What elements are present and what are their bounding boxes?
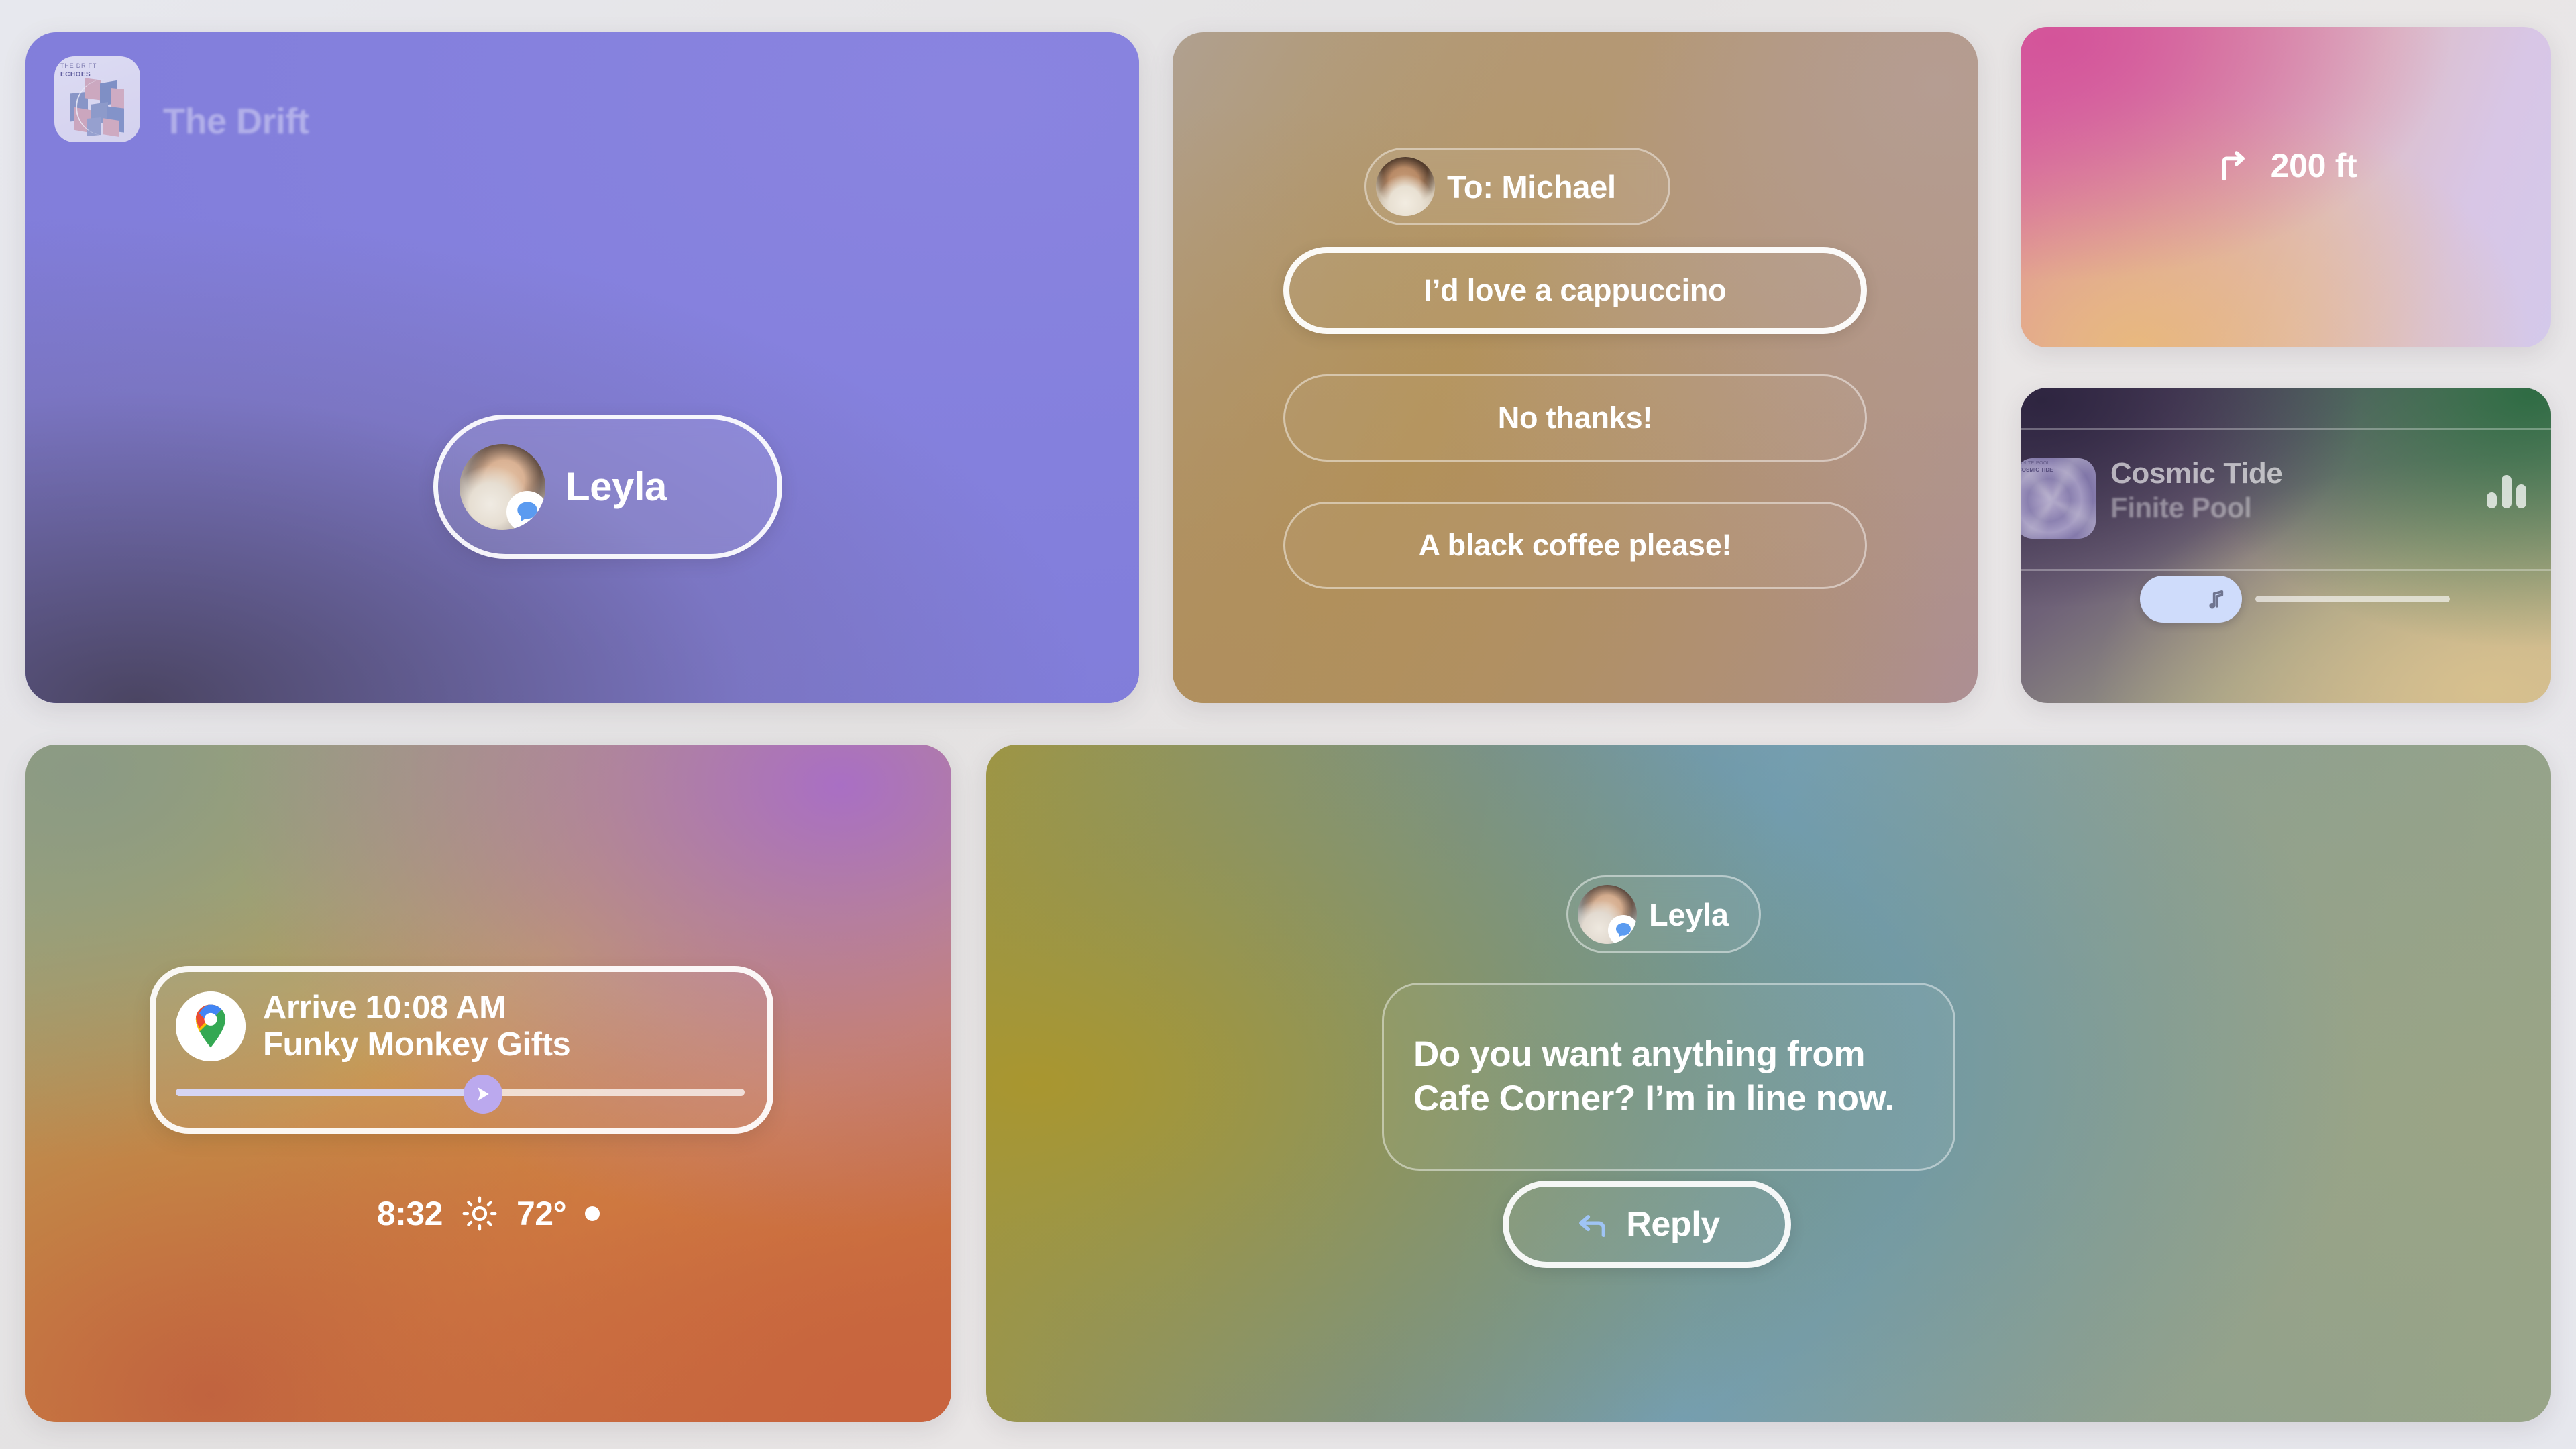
contact-chip-leyla[interactable]: Leyla <box>433 415 782 559</box>
avatar <box>460 444 545 530</box>
album-art-echoes: THE DRIFT ECHOES <box>54 56 140 142</box>
music-metadata: Cosmic Tide Finite Pool <box>2110 458 2282 523</box>
reply-option-0[interactable]: I’d love a cappuccino <box>1283 247 1867 334</box>
recipient-chip-michael[interactable]: To: Michael <box>1364 148 1670 225</box>
track-artist: The Drift <box>163 103 309 141</box>
music-note-icon <box>2203 586 2230 612</box>
media-player-card[interactable]: THE DRIFT ECHOES Echoes The Drift <box>25 32 1139 703</box>
compose-card-background <box>1173 32 1978 703</box>
compose-reply-card[interactable]: To: Michael I’d love a cappuccino No tha… <box>1173 32 1978 703</box>
message-bubble[interactable]: Do you want anything from Cafe Corner? I… <box>1382 983 1955 1171</box>
route-header: Arrive 10:08 AM Funky Monkey Gifts <box>176 989 745 1063</box>
reply-option-2[interactable]: A black coffee please! <box>1283 502 1867 589</box>
album-art-cosmic-tide: FINITE POOL COSMIC TIDE <box>2021 458 2096 539</box>
music-artist: Finite Pool <box>2110 492 2282 523</box>
music-title: Cosmic Tide <box>2110 458 2282 490</box>
reply-button-label: Reply <box>1626 1204 1720 1244</box>
reply-button[interactable]: Reply <box>1503 1181 1791 1268</box>
status-dot-icon <box>585 1206 600 1221</box>
messages-badge-icon <box>1608 915 1637 944</box>
widget-board: THE DRIFT ECHOES Echoes The Drift <box>0 0 2576 1449</box>
recipient-label: To: Michael <box>1447 168 1616 205</box>
album-art-shapes <box>70 79 128 136</box>
status-temperature: 72° <box>517 1194 566 1233</box>
music-progress-track[interactable] <box>2255 596 2450 602</box>
distance-card-background <box>2021 27 2551 347</box>
avatar <box>1578 885 1637 944</box>
route-card[interactable]: Arrive 10:08 AM Funky Monkey Gifts 8:32 <box>25 745 951 1422</box>
album-art-label-bottom: ECHOES <box>60 71 91 78</box>
divider-mid <box>2021 569 2551 571</box>
messages-badge-icon <box>506 491 545 530</box>
turn-right-icon <box>2214 146 2253 185</box>
navigation-distance-card[interactable]: 200 ft <box>2021 27 2551 347</box>
route-eta: Arrive 10:08 AM <box>263 989 570 1026</box>
album-art-label-top: FINITE POOL <box>2021 461 2050 466</box>
reply-arrow-icon <box>1574 1205 1611 1243</box>
equalizer-icon <box>2487 475 2526 508</box>
sender-name: Leyla <box>1649 896 1729 933</box>
album-art-label-bottom: COSMIC TIDE <box>2021 467 2053 473</box>
distance-row: 200 ft <box>2021 146 2551 185</box>
sender-chip-leyla[interactable]: Leyla <box>1566 875 1761 953</box>
google-maps-pin-icon <box>176 991 246 1061</box>
avatar <box>1376 157 1435 216</box>
navigation-arrow-icon[interactable] <box>464 1075 502 1114</box>
route-detail-panel[interactable]: Arrive 10:08 AM Funky Monkey Gifts <box>150 966 773 1134</box>
distance-label: 200 ft <box>2271 146 2357 185</box>
status-row: 8:32 72° <box>25 1194 951 1233</box>
message-text: Do you want anything from Cafe Corner? I… <box>1413 1032 1924 1122</box>
route-text-lines: Arrive 10:08 AM Funky Monkey Gifts <box>263 989 570 1063</box>
music-card-background <box>2021 388 2551 703</box>
status-time: 8:32 <box>377 1194 443 1233</box>
divider-top <box>2021 428 2551 430</box>
music-scrub-handle[interactable] <box>2140 576 2242 623</box>
music-player-card-cosmic-tide[interactable]: FINITE POOL COSMIC TIDE Cosmic Tide Fini… <box>2021 388 2551 703</box>
route-progress-bar[interactable] <box>176 1081 745 1104</box>
sun-icon <box>462 1195 498 1232</box>
reply-option-1[interactable]: No thanks! <box>1283 374 1867 462</box>
message-card[interactable]: Leyla Do you want anything from Cafe Cor… <box>986 745 2551 1422</box>
album-art-label-top: THE DRIFT <box>60 62 97 69</box>
progress-fill <box>176 1089 483 1096</box>
route-destination: Funky Monkey Gifts <box>263 1026 570 1063</box>
contact-name: Leyla <box>566 464 667 510</box>
